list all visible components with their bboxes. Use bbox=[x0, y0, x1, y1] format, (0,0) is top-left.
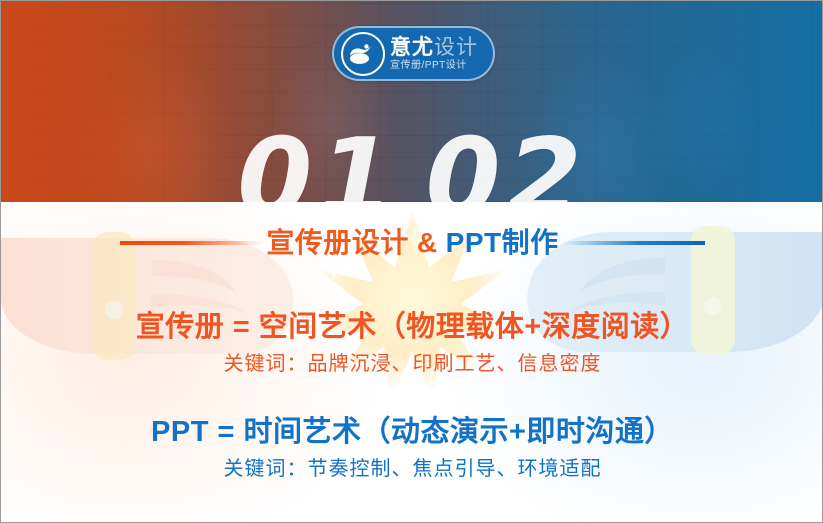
brand-swoosh-icon bbox=[341, 32, 385, 76]
block-2-keywords: 关键词：节奏控制、焦点引导、环境适配 bbox=[1, 452, 823, 481]
slide-canvas: 0102 意尤设计 宣传册/PPT设计 bbox=[0, 0, 823, 523]
title-ampersand: & bbox=[413, 229, 442, 257]
title-left-part: 宣传册设计 bbox=[262, 229, 413, 257]
section-number-01: 01 bbox=[237, 116, 399, 202]
title-right-part: PPT制作 bbox=[442, 229, 563, 257]
section-title: 宣传册设计 & PPT制作 bbox=[1, 229, 823, 257]
divider-line-right bbox=[563, 241, 705, 245]
brand-subtitle: 宣传册/PPT设计 bbox=[390, 61, 478, 71]
header-banner: 0102 意尤设计 宣传册/PPT设计 bbox=[1, 1, 823, 202]
content-area: 宣传册设计 & PPT制作 宣传册 = 空间艺术（物理载体+深度阅读） 关键词：… bbox=[1, 202, 823, 522]
divider-line-left bbox=[120, 241, 262, 245]
section-number-02: 02 bbox=[426, 116, 588, 202]
brand-name: 意尤设计 bbox=[390, 37, 478, 58]
brand-text: 意尤设计 宣传册/PPT设计 bbox=[390, 37, 478, 71]
block-2-headline: PPT = 时间艺术（动态演示+即时沟通） bbox=[1, 408, 823, 450]
brand-logo[interactable]: 意尤设计 宣传册/PPT设计 bbox=[332, 26, 495, 81]
block-1-headline: 宣传册 = 空间艺术（物理载体+深度阅读） bbox=[1, 303, 823, 345]
block-1-keywords: 关键词：品牌沉浸、印刷工艺、信息密度 bbox=[1, 347, 823, 376]
brand-name-light: 设计 bbox=[434, 36, 478, 59]
brand-name-bold: 意尤 bbox=[390, 36, 434, 59]
section-numbers: 0102 bbox=[1, 125, 823, 202]
